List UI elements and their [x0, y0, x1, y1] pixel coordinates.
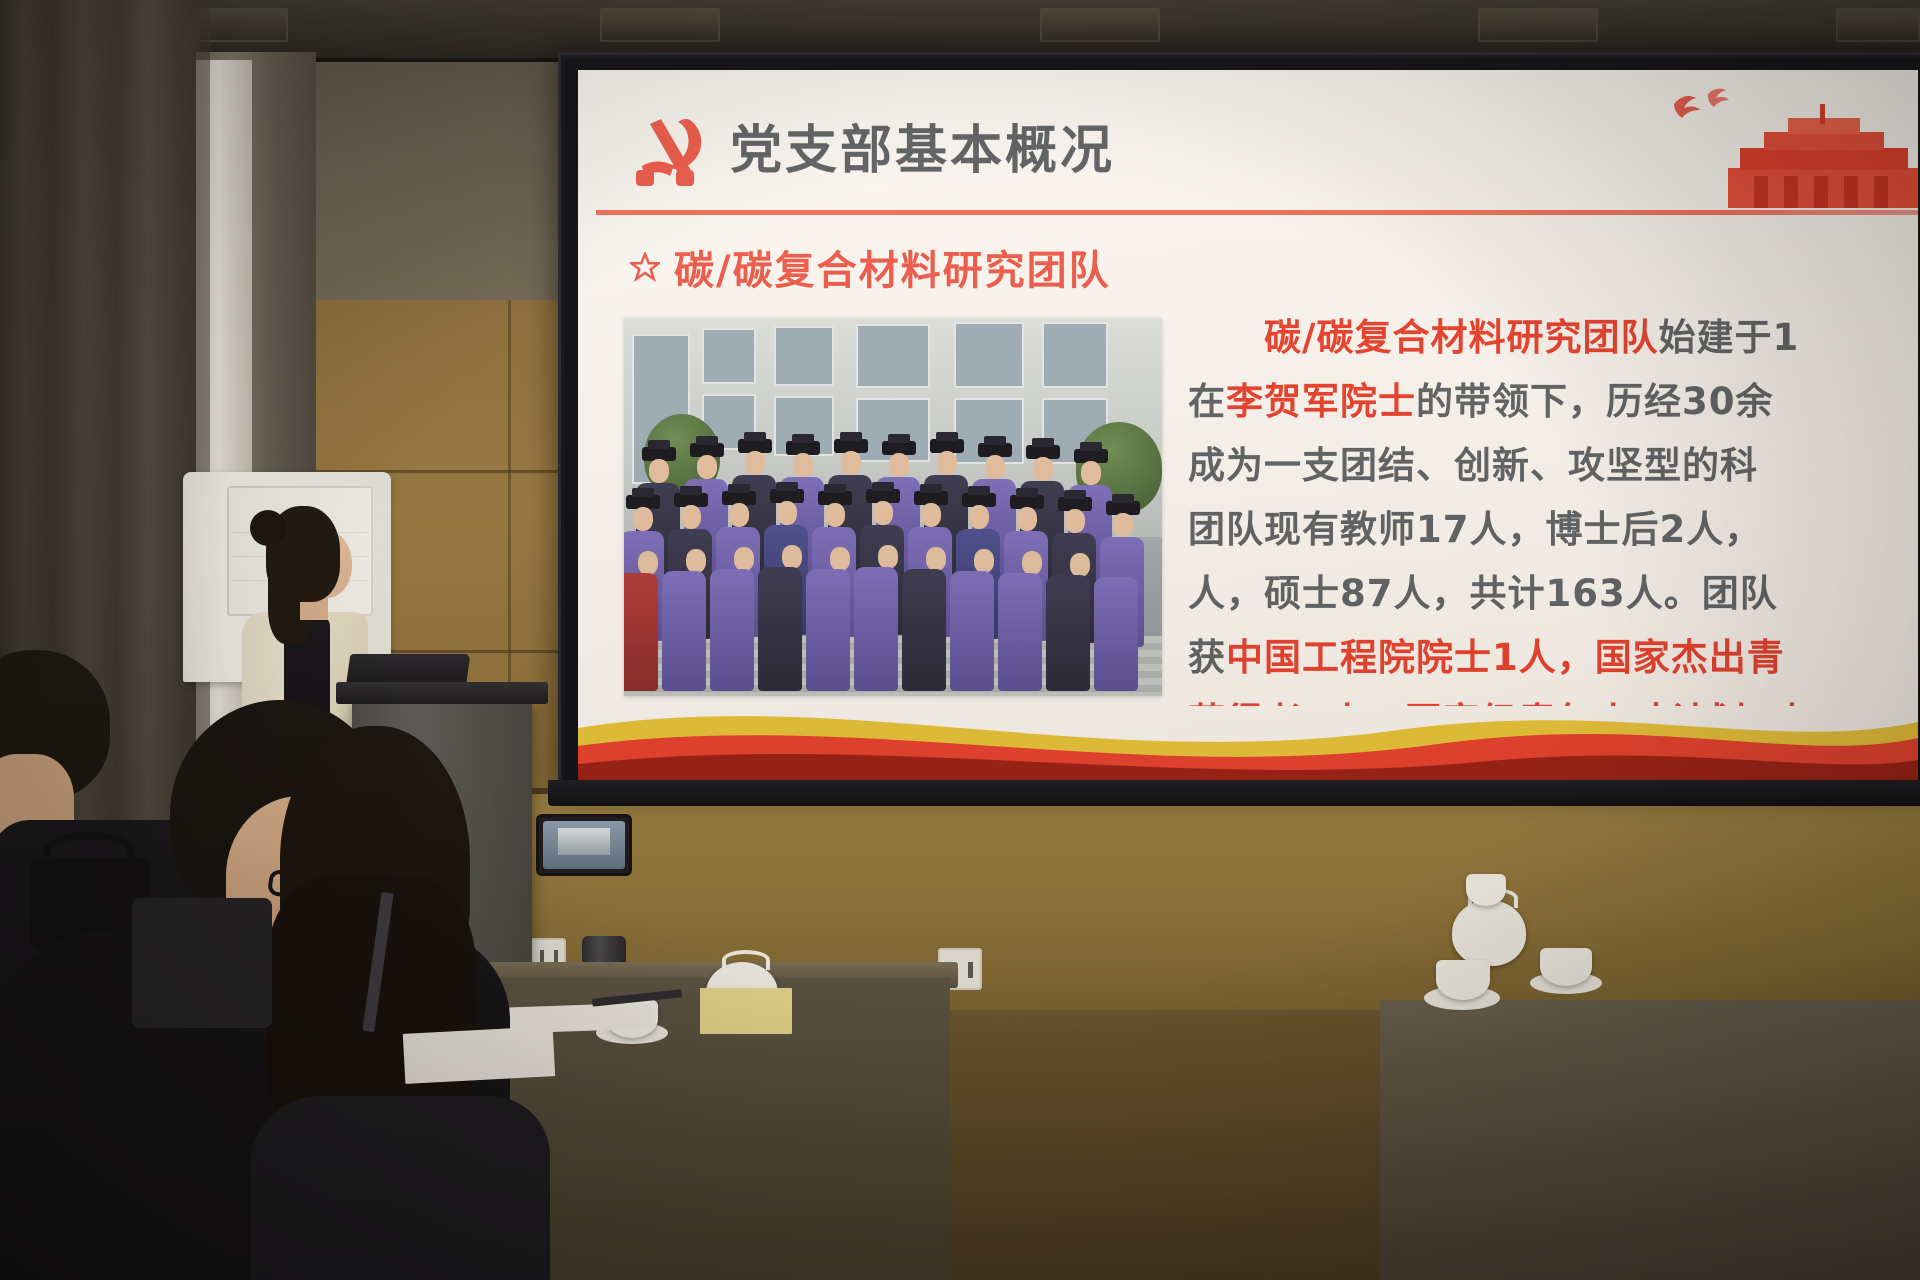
highlighted-text: 李贺军院士: [1226, 380, 1416, 423]
smartphone-recording: [536, 814, 632, 876]
notepad: [403, 1026, 555, 1084]
slide-title: 党支部基本概况: [730, 120, 1115, 182]
header-decoration: [1588, 70, 1918, 210]
photo-crowd: [624, 439, 1162, 673]
slide-body-line: 成为一支团结、创新、攻坚型的科: [1188, 434, 1918, 498]
slide-header: 党支部基本概况: [578, 70, 1918, 218]
slide-body-line: 人，硕士87人，共计163人。团队: [1188, 562, 1918, 626]
title-divider: [596, 210, 1918, 215]
attendee-woman-foreground: [250, 726, 530, 1280]
ceiling-light-panel: [1040, 8, 1160, 42]
screen-bottom-bar: [548, 780, 1920, 806]
slide-subtitle-row: 碳/碳复合材料研究团队: [630, 238, 1111, 296]
graduation-group-photo: [624, 318, 1162, 696]
body-text: 人，硕士87人，共计163人。团队: [1188, 572, 1778, 615]
body-text: 团队现有教师17人，博士后2人，: [1188, 508, 1762, 551]
ceiling-light-panel: [600, 8, 720, 42]
slide-bottom-ribbon: [578, 668, 1918, 786]
tiananmen-illustration: [1724, 104, 1918, 208]
ceiling-light-panel: [1836, 8, 1920, 42]
slide-body-line: 碳/碳复合材料研究团队始建于1: [1188, 306, 1918, 370]
body-text: [1188, 316, 1264, 359]
hammer-and-sickle-emblem: [630, 114, 714, 192]
slide-body-line: 团队现有教师17人，博士后2人，: [1188, 498, 1918, 562]
conference-room-photo: 党支部基本概况: [0, 0, 1920, 1280]
body-text: 在: [1188, 380, 1226, 423]
chair-back: [132, 898, 272, 1028]
highlighted-text: 碳/碳复合材料研究团队: [1264, 316, 1659, 359]
teapot: [1452, 900, 1526, 966]
folder: [700, 988, 792, 1034]
side-table: [1380, 1000, 1920, 1280]
body-text: 始建于1: [1659, 316, 1800, 359]
slide-body-text: 碳/碳复合材料研究团队始建于1在李贺军院士的带领下，历经30余成为一支团结、创新…: [1188, 306, 1918, 706]
ceiling: [0, 0, 1920, 60]
teacup: [1540, 948, 1592, 986]
teacup: [1466, 874, 1506, 906]
teacup: [1436, 960, 1490, 1000]
projection-screen: 党支部基本概况: [558, 52, 1920, 792]
body-text: 成为一支团结、创新、攻坚型的科: [1188, 444, 1758, 487]
body-text: 的带领下，历经30余: [1416, 380, 1774, 423]
ceiling-light-panel: [1478, 8, 1598, 42]
star-icon: [630, 252, 660, 282]
slide-subtitle: 碳/碳复合材料研究团队: [674, 238, 1111, 296]
presentation-slide: 党支部基本概况: [578, 70, 1918, 786]
slide-body-line: 在李贺军院士的带领下，历经30余: [1188, 370, 1918, 434]
